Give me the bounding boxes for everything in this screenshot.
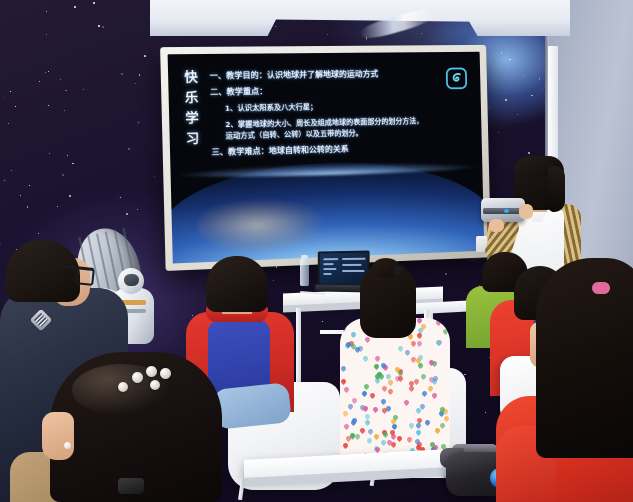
eyeglasses-lens-icon [75, 267, 95, 286]
slide-line: 1、认识太阳系及八大行星； [225, 99, 474, 114]
teacher-hand-right [519, 204, 533, 219]
classroom-scene: 快 乐 学 习 一、教学目的：认识地球并了解地球的运动方式 二、教学重点： 1、… [0, 0, 633, 502]
pearl-hair-clip-bead [118, 382, 128, 392]
vertical-char: 乐 [179, 89, 204, 110]
hair-tie [393, 266, 402, 275]
water-bottle[interactable] [300, 258, 309, 286]
teacher-hair-side [548, 166, 565, 212]
man-hair [6, 240, 80, 302]
swirl-logo-icon [446, 68, 467, 90]
pearl-hair-clip-bead [146, 366, 157, 377]
slide-text-area: 快 乐 学 习 一、教学目的：认识地球并了解地球的运动方式 二、教学重点： 1、… [168, 52, 485, 264]
wrist-watch [118, 478, 144, 494]
presentation-display[interactable]: 快 乐 学 习 一、教学目的：认识地球并了解地球的运动方式 二、教学重点： 1、… [160, 45, 491, 271]
boy-hood [212, 382, 292, 430]
pearl-hair-clip-bead [160, 368, 171, 379]
slide-line: 2、掌握地球的大小、周长及组成地球的表面部分的划分方法，运动方式（自转、公转）以… [225, 115, 429, 141]
girl-long-hair [536, 258, 633, 458]
astronaut-visor [124, 274, 139, 286]
pearl-hair-clip-bead [132, 372, 143, 383]
teacher-hand-left [489, 219, 504, 232]
slide-line: 一、教学目的：认识地球并了解地球的运动方式 [210, 67, 473, 81]
slide-line: 三、教学难点：地球自转和公转的关系 [211, 141, 474, 158]
boy-hair [206, 256, 268, 312]
vertical-char: 快 [178, 68, 203, 89]
slide-body-lines: 一、教学目的：认识地球并了解地球的运动方式 二、教学重点： 1、认识太阳系及八大… [210, 67, 475, 163]
pink-hair-tie [592, 282, 610, 294]
slide-line: 二、教学重点： [210, 83, 473, 98]
projector-band [483, 208, 523, 214]
pearl-hair-clip-bead [150, 380, 160, 390]
finger-ring [64, 442, 71, 449]
desk-leg [296, 308, 301, 392]
vertical-char: 学 [179, 109, 204, 130]
display-screen: 快 乐 学 习 一、教学目的：认识地球并了解地球的运动方式 二、教学重点： 1、… [168, 52, 485, 264]
projector-lens-icon [504, 209, 509, 213]
laptop-ui [320, 253, 368, 285]
vertical-char: 习 [180, 130, 205, 151]
slide-vertical-title: 快 乐 学 习 [178, 68, 205, 150]
woman-hand [42, 412, 74, 460]
